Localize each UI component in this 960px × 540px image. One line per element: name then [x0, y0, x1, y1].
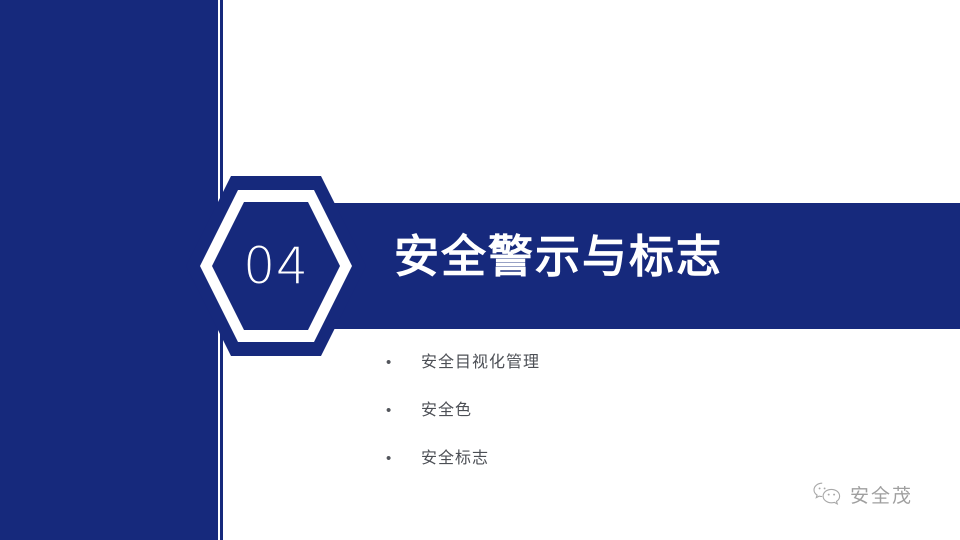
bullet-marker-icon: •: [383, 403, 421, 418]
list-item: • 安全目视化管理: [383, 348, 803, 396]
section-number-label: 04: [186, 176, 366, 356]
section-number-badge: 04: [186, 176, 366, 356]
list-item-label: 安全标志: [421, 444, 489, 468]
list-item-label: 安全色: [421, 396, 472, 420]
slide-canvas: 04 安全警示与标志 • 安全目视化管理 • 安全色 • 安全标志: [0, 0, 960, 540]
watermark: 安全茂: [812, 476, 942, 512]
bullet-marker-icon: •: [383, 355, 421, 370]
agenda-list: • 安全目视化管理 • 安全色 • 安全标志: [383, 348, 803, 492]
bullet-marker-icon: •: [383, 451, 421, 466]
wechat-icon: [812, 481, 842, 507]
list-item: • 安全色: [383, 396, 803, 444]
list-item-label: 安全目视化管理: [421, 348, 540, 372]
page-title: 安全警示与标志: [394, 234, 723, 279]
watermark-label: 安全茂: [850, 481, 913, 508]
list-item: • 安全标志: [383, 444, 803, 492]
